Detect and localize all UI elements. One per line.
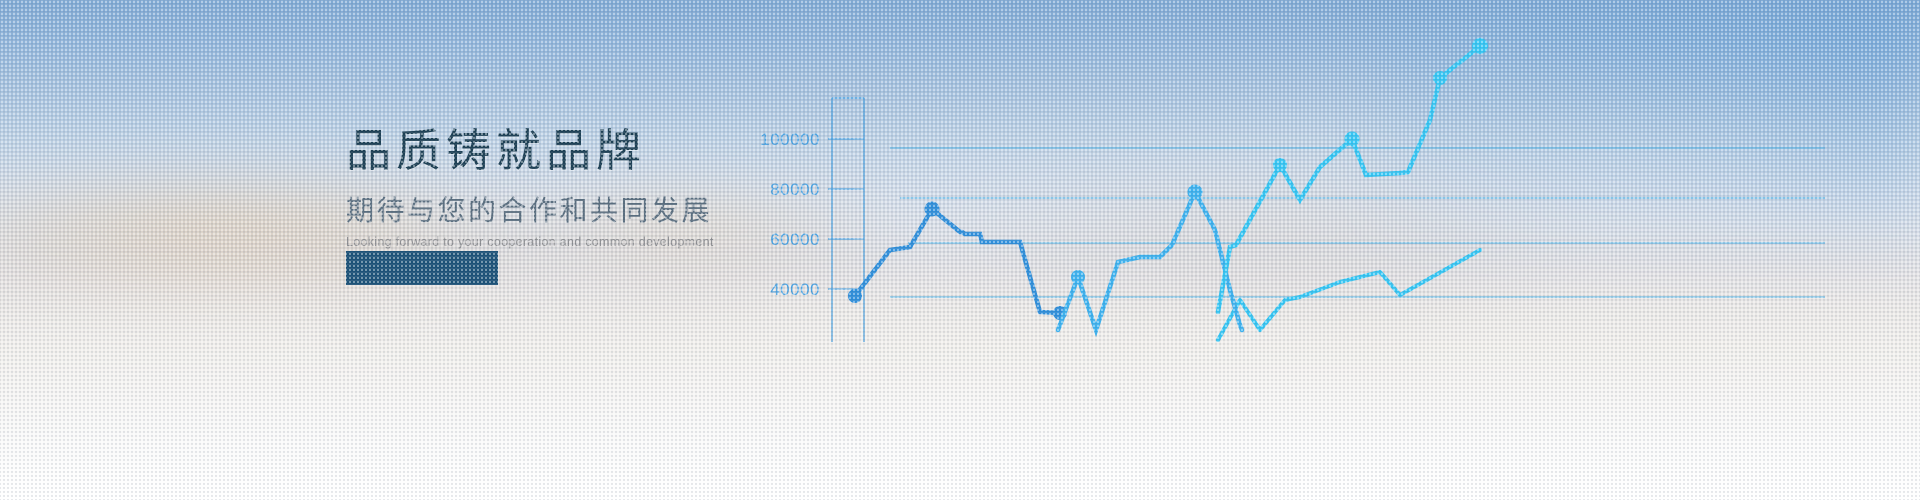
- series-3: [1218, 38, 1488, 312]
- series-3-marker-2: [1345, 132, 1360, 147]
- page-title: 品质铸就品牌: [346, 124, 966, 177]
- series-3-marker-end: [1472, 38, 1488, 54]
- y-tick-40000: 40000: [770, 280, 820, 299]
- series-2: [1058, 185, 1242, 331]
- hero-subtitle: 期待与您的合作和共同发展: [346, 193, 966, 228]
- series-2-marker-peak: [1188, 185, 1203, 200]
- banner-stage: 100000 80000 60000 40000: [0, 0, 1920, 500]
- series-1-marker-start: [848, 289, 862, 303]
- hero-copy: 品质铸就品牌 期待与您的合作和共同发展 Looking forward to y…: [346, 124, 966, 250]
- series-4: [1218, 250, 1480, 340]
- series-3-marker-3: [1433, 71, 1447, 85]
- hero-subtitle-english: Looking forward to your cooperation and …: [346, 234, 966, 250]
- series-3-marker-1: [1273, 158, 1287, 172]
- series-2-marker-1: [1071, 270, 1085, 284]
- cta-button[interactable]: [346, 251, 498, 285]
